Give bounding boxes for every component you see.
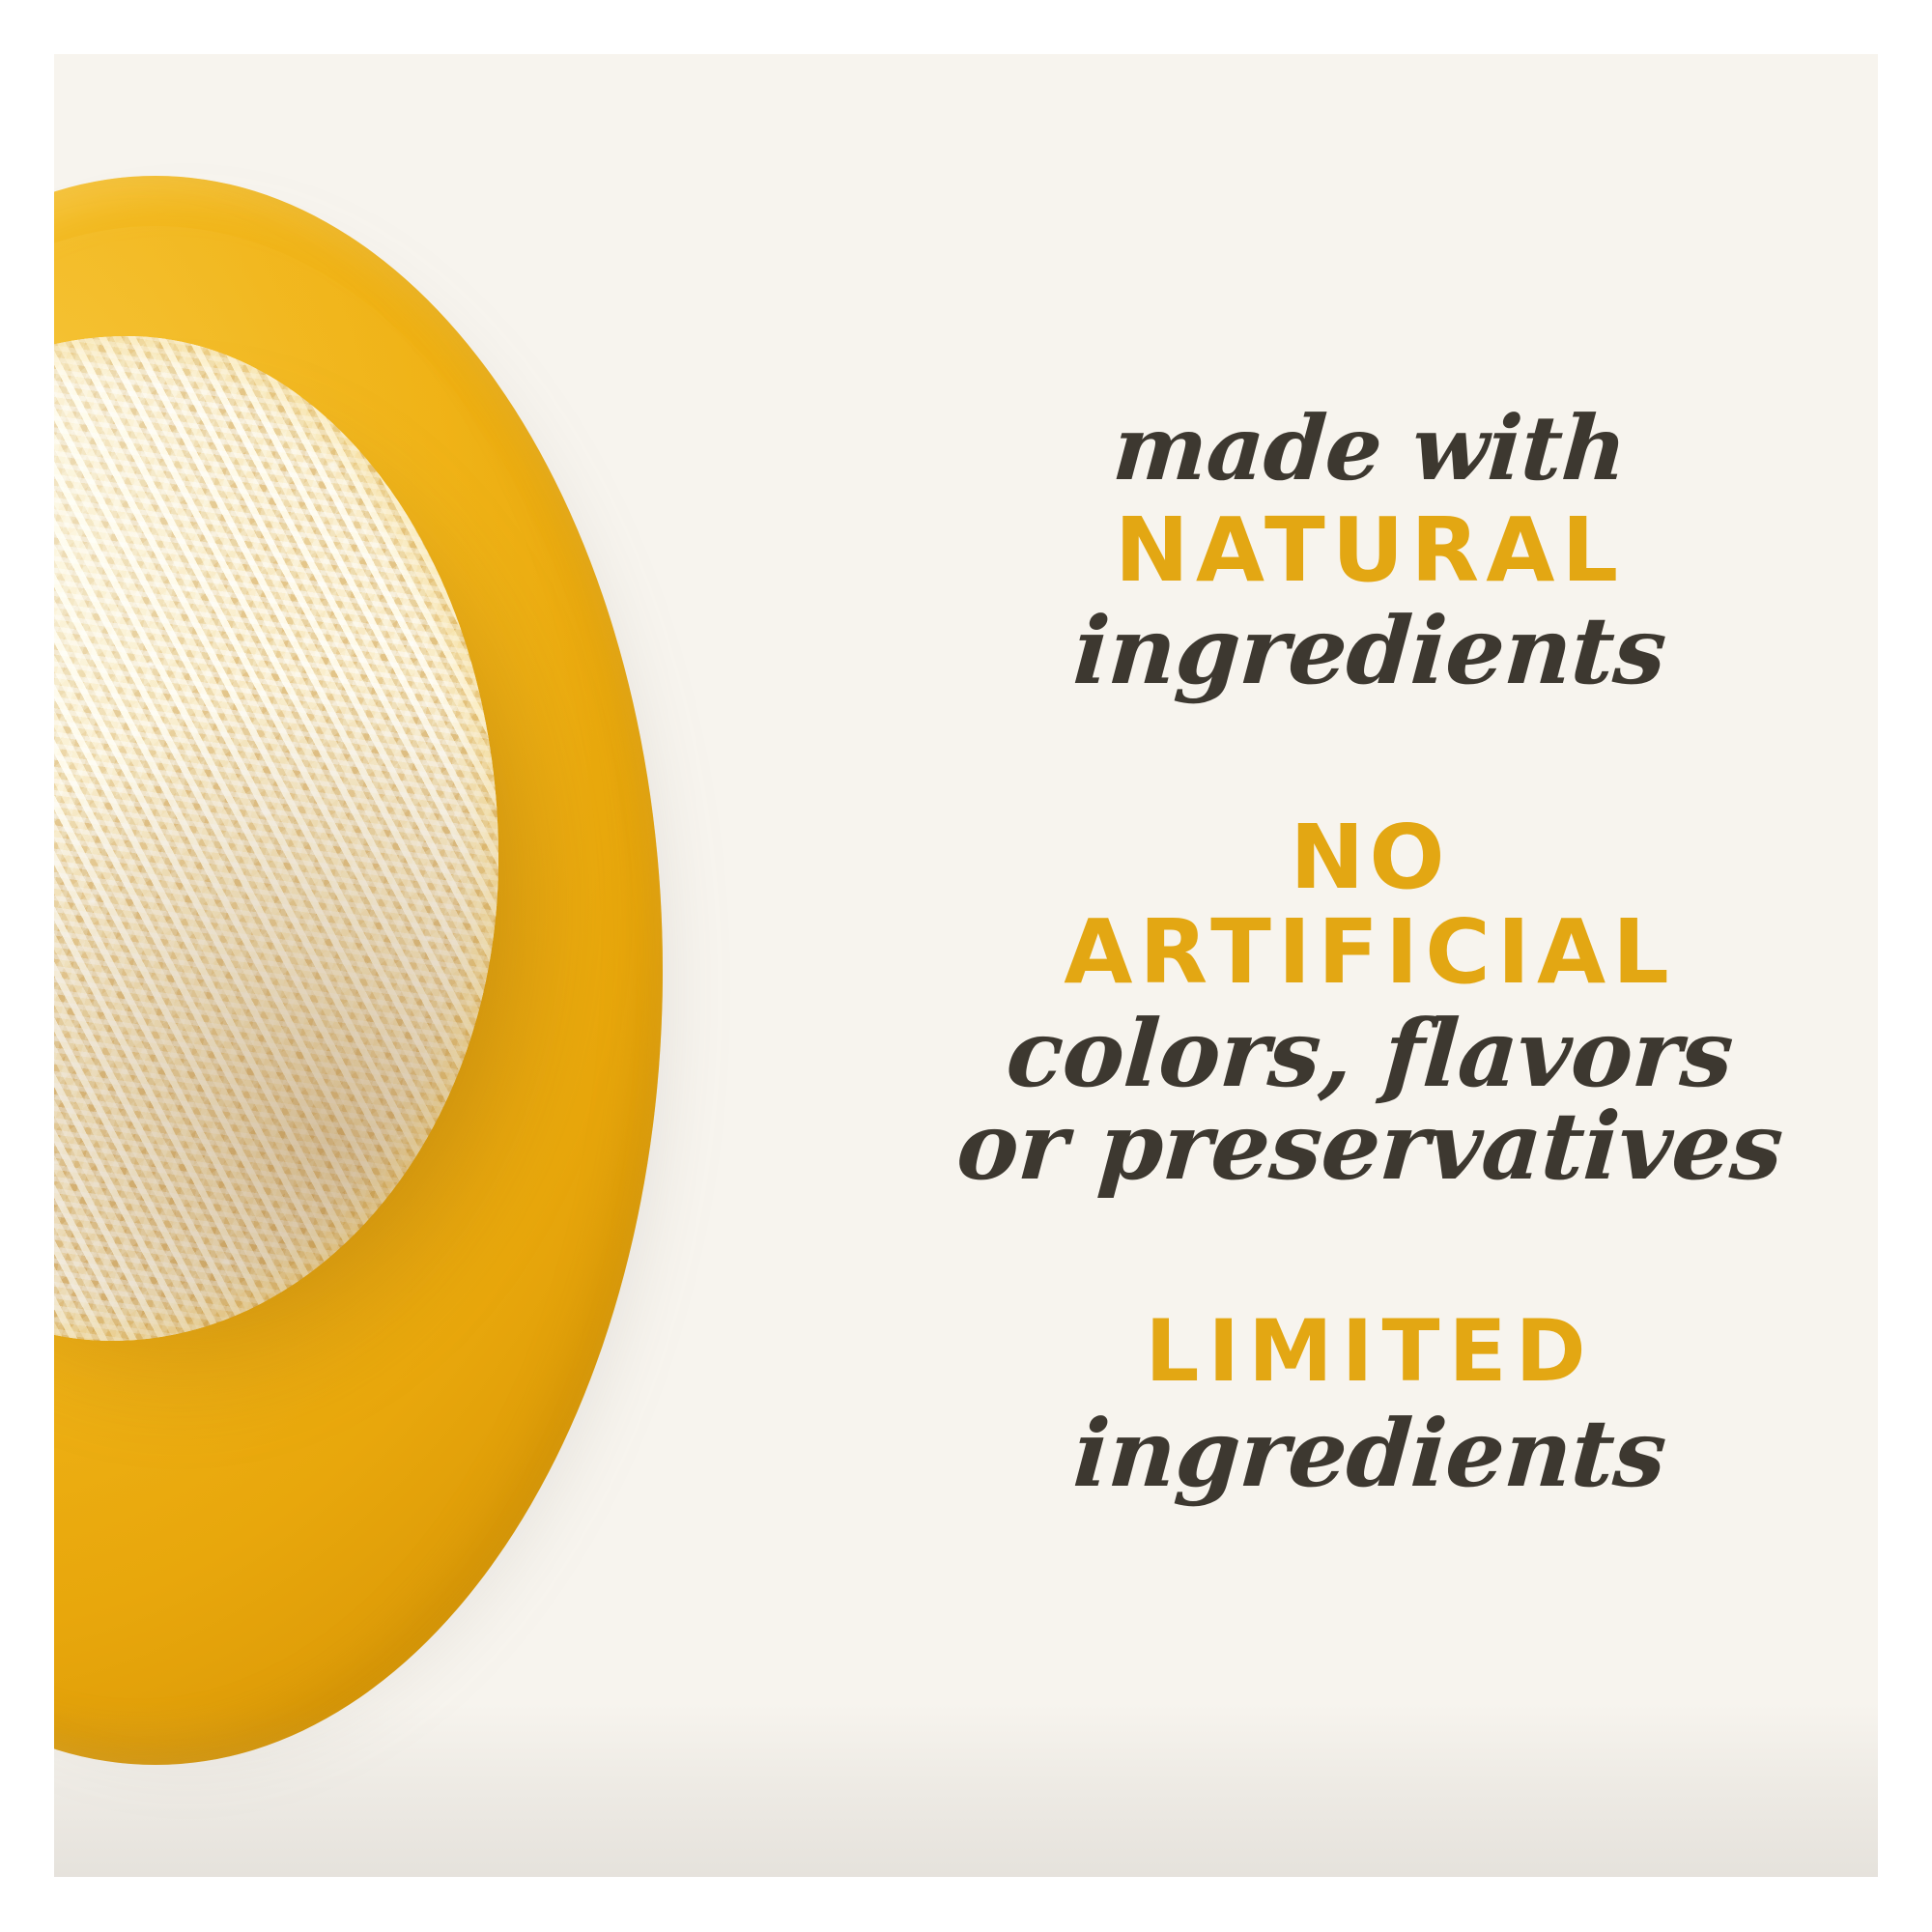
claim-2-line-4: or preservatives xyxy=(804,1097,1878,1196)
claim-2-line-1-highlight: NO xyxy=(808,812,1878,903)
shredded-chicken-food xyxy=(54,336,498,1341)
claim-1-line-3: ingredients xyxy=(804,602,1878,700)
claim-3-line-2: ingredients xyxy=(804,1405,1878,1503)
claim-made-with-natural-ingredients: made with NATURAL ingredients xyxy=(808,402,1878,700)
claim-no-artificial: NO ARTIFICIAL colors, flavors or preserv… xyxy=(808,812,1878,1196)
claim-2-line-2-highlight: ARTIFICIAL xyxy=(808,907,1878,998)
claim-1-line-1: made with xyxy=(805,402,1878,497)
content-card: made with NATURAL ingredients NO ARTIFIC… xyxy=(54,54,1878,1877)
product-photo xyxy=(54,54,923,1877)
claim-1-line-2-highlight: NATURAL xyxy=(808,505,1878,596)
page-canvas: made with NATURAL ingredients NO ARTIFIC… xyxy=(0,0,1932,1932)
claim-3-line-1-highlight: LIMITED xyxy=(808,1308,1878,1395)
claim-2-line-3: colors, flavors xyxy=(804,1005,1878,1103)
claims-column: made with NATURAL ingredients NO ARTIFIC… xyxy=(808,54,1878,1877)
claim-limited-ingredients: LIMITED ingredients xyxy=(808,1308,1878,1503)
